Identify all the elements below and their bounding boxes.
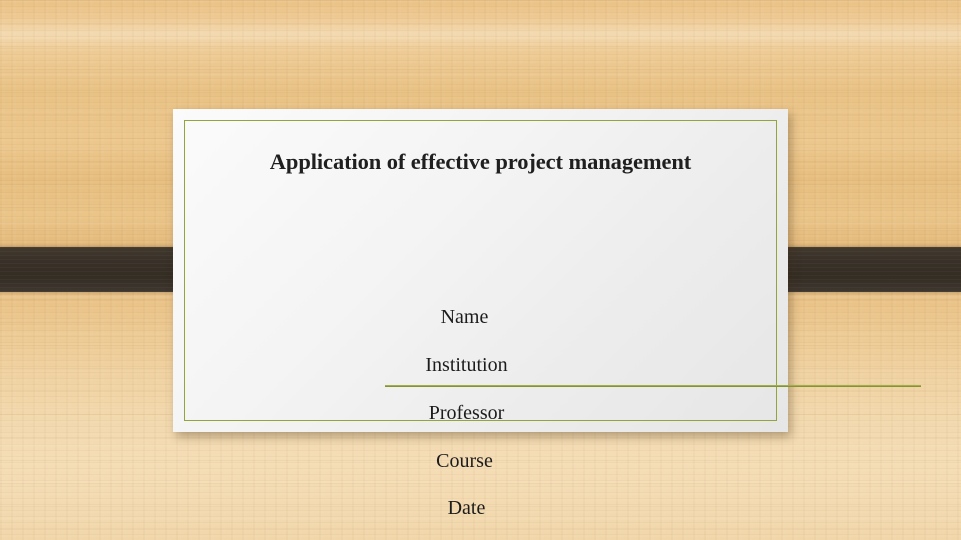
slide-subtitle-institution: Institution xyxy=(173,354,788,377)
decorative-ribbon-left xyxy=(0,247,194,292)
slide-subtitle-date: Date xyxy=(173,497,788,520)
slide-subtitle-name: Name xyxy=(173,306,788,329)
slide-title: Application of effective project managem… xyxy=(173,149,788,175)
slide-subtitle-professor: Professor xyxy=(173,402,788,425)
presentation-slide: Application of effective project managem… xyxy=(173,109,788,432)
accent-divider-line xyxy=(385,385,921,387)
decorative-ribbon-right xyxy=(766,247,961,292)
slide-subtitle-course: Course xyxy=(173,450,788,473)
slide-content: Application of effective project managem… xyxy=(173,109,788,432)
slide-canvas: Application of effective project managem… xyxy=(0,0,961,540)
